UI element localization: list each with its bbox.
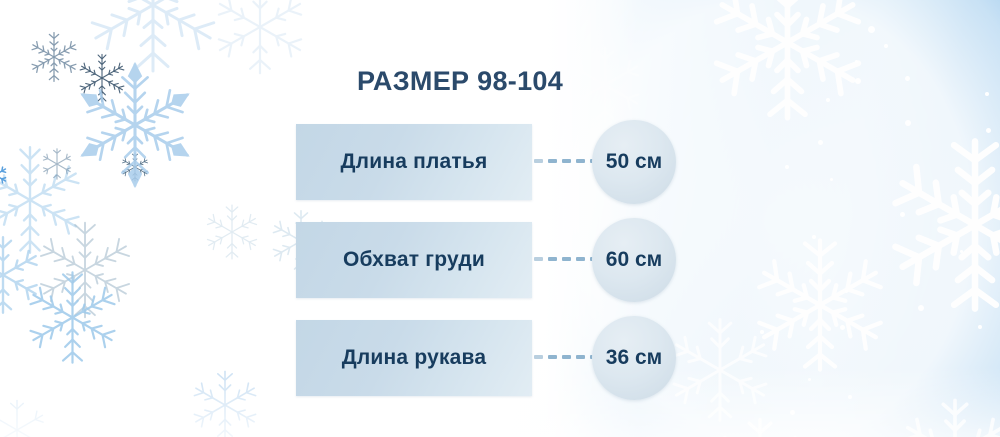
measurement-value-circle[interactable]: 36 см (592, 316, 676, 400)
dashed-connector-icon (534, 257, 600, 261)
measurement-value-circle[interactable]: 60 см (592, 218, 676, 302)
measurement-value: 50 см (592, 120, 676, 204)
measurement-label: Длина платья (296, 124, 532, 200)
chart-content: РАЗМЕР 98-104 Длина платья 50 см Обхват … (0, 0, 1000, 437)
dashed-connector-icon (534, 159, 600, 163)
measurement-label-box[interactable]: Длина платья (296, 124, 532, 200)
dashed-connector-icon (534, 355, 600, 359)
size-chart-infographic: РАЗМЕР 98-104 Длина платья 50 см Обхват … (0, 0, 1000, 437)
measurement-label: Обхват груди (296, 222, 532, 298)
measurement-label-box[interactable]: Обхват груди (296, 222, 532, 298)
measurement-label-box[interactable]: Длина рукава (296, 320, 532, 396)
measurement-label: Длина рукава (296, 320, 532, 396)
measurement-value-circle[interactable]: 50 см (592, 120, 676, 204)
measurement-value: 36 см (592, 316, 676, 400)
page-title: РАЗМЕР 98-104 (0, 66, 920, 97)
measurement-value: 60 см (592, 218, 676, 302)
